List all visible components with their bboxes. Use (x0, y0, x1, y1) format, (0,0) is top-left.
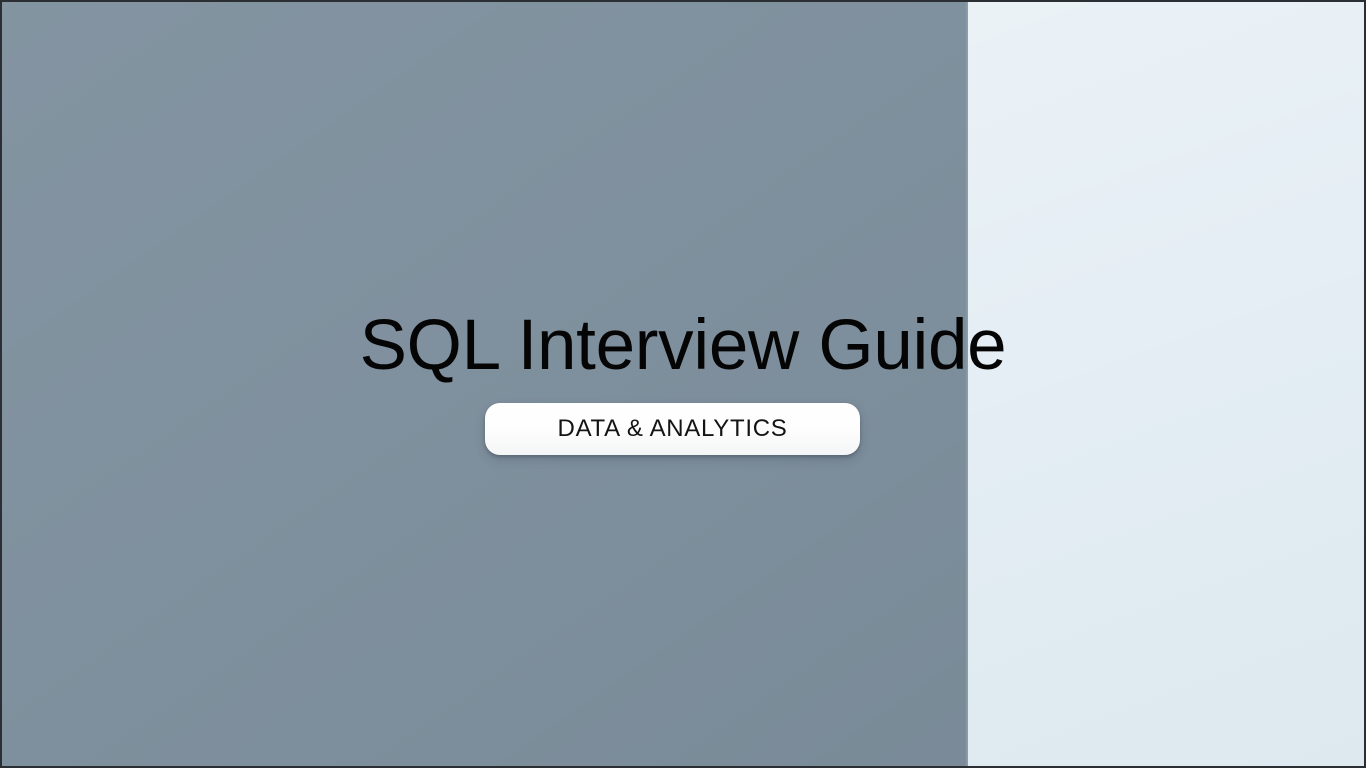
page-title: SQL Interview Guide (360, 309, 1007, 384)
title-slide: SQL Interview Guide DATA & ANALYTICS (0, 0, 1366, 768)
category-badge-label: DATA & ANALYTICS (558, 417, 788, 441)
slide-content: SQL Interview Guide (2, 2, 1364, 766)
category-badge: DATA & ANALYTICS (485, 403, 860, 455)
